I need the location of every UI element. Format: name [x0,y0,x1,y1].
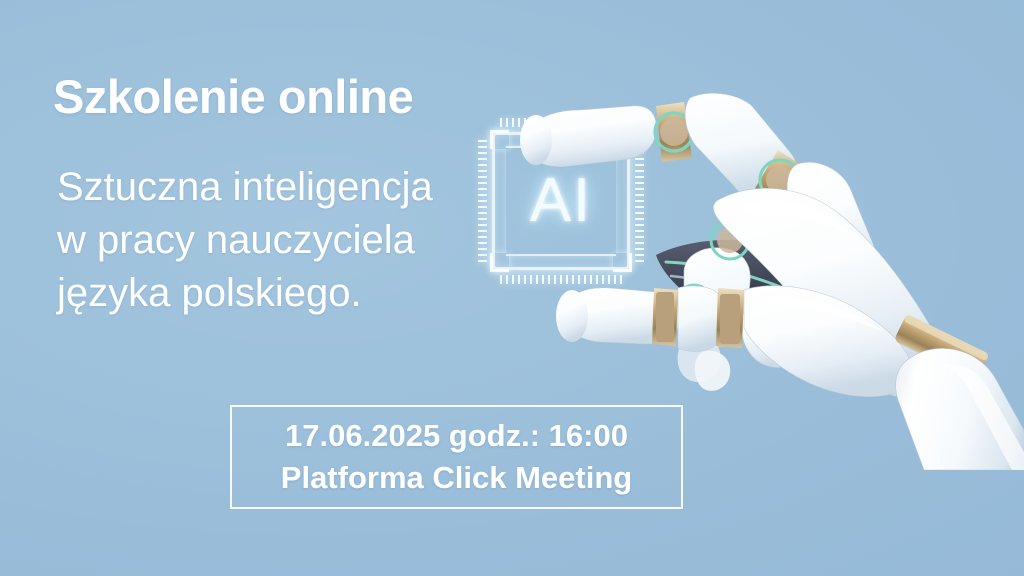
subtitle-line-3: języka polskiego. [57,267,487,320]
page-title: Szkolenie online [53,71,413,123]
event-details-box: 17.06.2025 godz.: 16:00 Platforma Click … [230,405,683,509]
chip-corner-top-right [613,130,632,149]
poster-canvas: AI [0,0,1024,576]
chip-corner-bottom-right [613,253,632,272]
chip-corner-top-left [490,130,509,149]
event-date-time: 17.06.2025 godz.: 16:00 [285,418,628,454]
chip-pins-top [500,118,622,127]
chip-pins-bottom [500,275,622,284]
subtitle-line-2: w pracy nauczyciela [57,214,487,267]
event-platform: Platforma Click Meeting [281,460,632,496]
subtitle-block: Sztuczna inteligencja w pracy nauczyciel… [57,161,487,320]
subtitle-line-1: Sztuczna inteligencja [57,161,487,214]
chip-label-ai: AI [476,170,646,232]
ai-chip-icon: AI [476,116,646,286]
chip-corner-bottom-left [490,253,509,272]
